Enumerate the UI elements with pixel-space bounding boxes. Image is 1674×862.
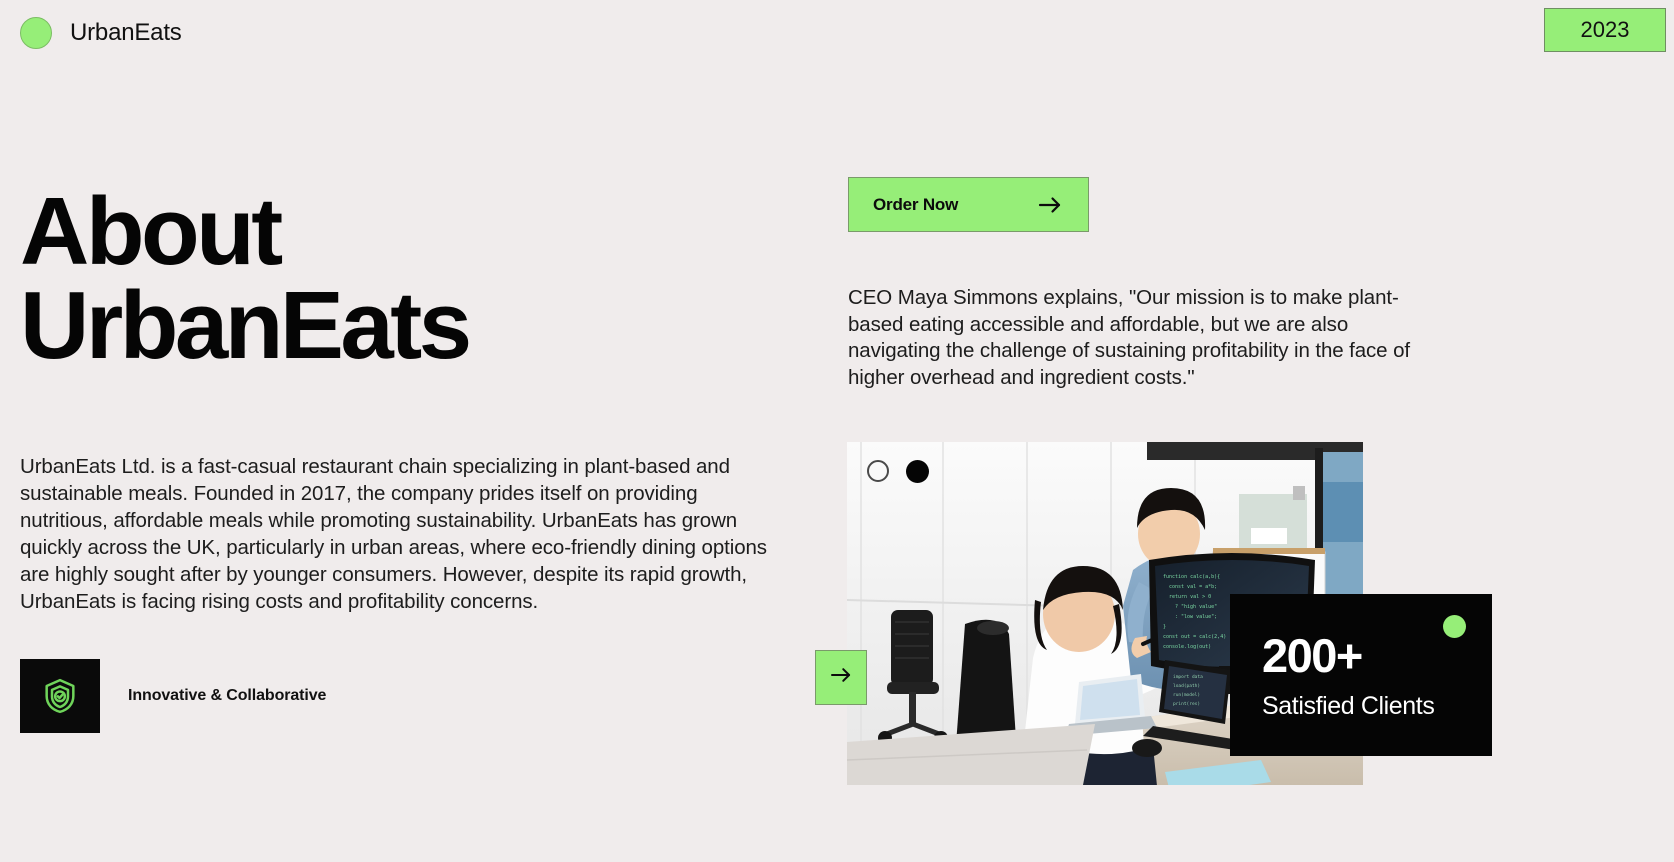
svg-text:return val > 0: return val > 0 [1169,594,1211,600]
hero-left-column: About UrbanEats UrbanEats Ltd. is a fast… [20,185,810,733]
svg-text:function calc(a,b){: function calc(a,b){ [1163,574,1220,580]
page-title: About UrbanEats [20,185,810,373]
order-now-label: Order Now [873,195,958,215]
svg-text:import data: import data [1173,674,1203,680]
svg-text:load(path): load(path) [1173,683,1200,689]
svg-text:}: } [1163,624,1166,630]
svg-text:: "low value";: : "low value"; [1175,614,1217,620]
svg-text:? "high value": ? "high value" [1175,604,1217,610]
svg-text:run(model): run(model) [1173,692,1200,698]
about-paragraph: UrbanEats Ltd. is a fast-casual restaura… [20,453,780,615]
circle-filled-icon[interactable] [906,460,929,483]
ceo-quote: CEO Maya Simmons explains, "Our mission … [848,285,1420,392]
gallery-dot-indicators[interactable] [867,460,929,483]
arrow-right-icon [1037,195,1063,215]
stat-label: Satisfied Clients [1262,692,1492,721]
arrow-right-icon [829,666,853,689]
svg-text:print(res): print(res) [1173,701,1200,707]
year-badge: 2023 [1544,8,1666,52]
headline-line-1: About [20,185,810,279]
brand-name: UrbanEats [70,19,182,47]
order-now-button[interactable]: Order Now [848,177,1089,232]
stat-card: 200+ Satisfied Clients [1230,594,1492,756]
gallery-next-button[interactable] [815,650,867,705]
stat-value: 200+ [1262,632,1492,679]
svg-text:const out = calc(2,4): const out = calc(2,4) [1163,634,1226,640]
brand-logo[interactable]: UrbanEats [20,17,182,49]
circle-outline-icon[interactable] [867,460,889,482]
top-bar: UrbanEats 2023 [0,0,1674,66]
circle-icon [1443,615,1466,638]
feature-label: Innovative & Collaborative [128,687,326,705]
feature-badge: Innovative & Collaborative [20,659,810,733]
headline-line-2: UrbanEats [20,279,810,373]
svg-text:const val = a*b;: const val = a*b; [1169,584,1217,590]
svg-text:console.log(out): console.log(out) [1163,644,1211,650]
shield-check-icon [20,659,100,733]
circle-icon [20,17,52,49]
